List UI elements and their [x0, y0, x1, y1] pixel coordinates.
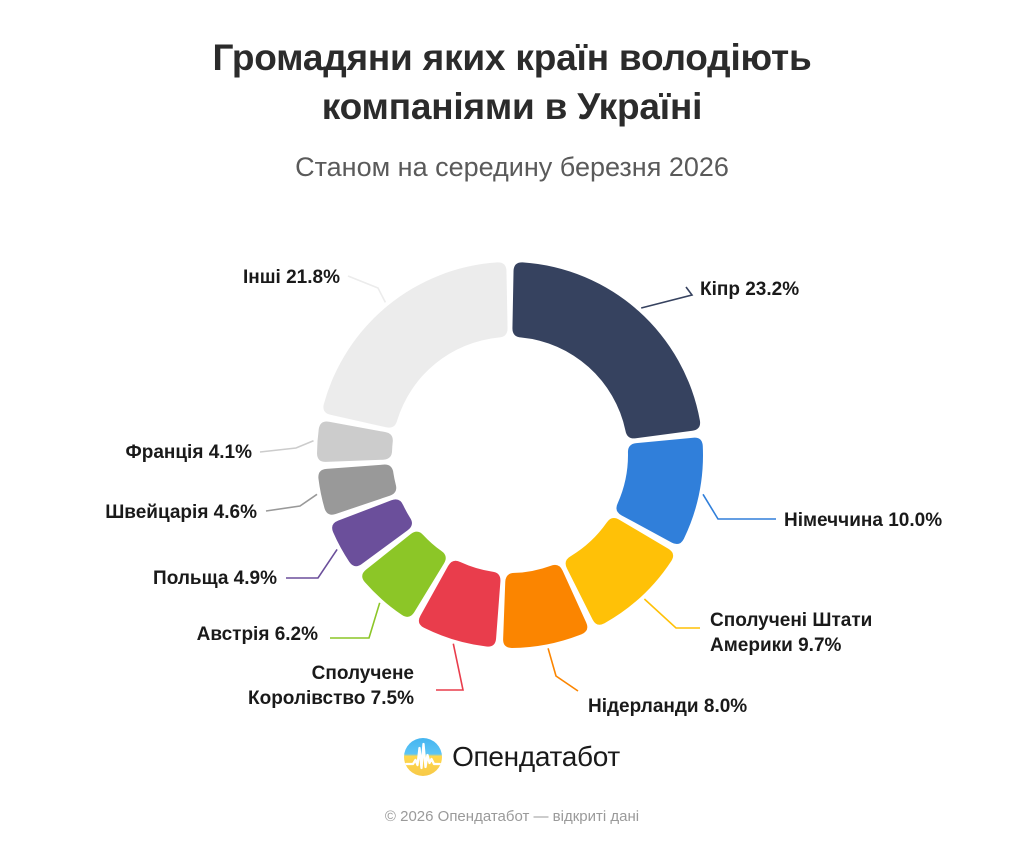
- slice-label: Інші 21.8%: [243, 267, 340, 288]
- leader-line: [348, 276, 385, 302]
- slice-label-line: Австрія 6.2%: [197, 624, 318, 645]
- slice-label: Кіпр 23.2%: [700, 279, 799, 300]
- slice-label-line: Сполучені Штати: [710, 610, 872, 631]
- slice-label: Німеччина 10.0%: [784, 510, 942, 531]
- leader-line: [436, 644, 463, 690]
- leader-line: [548, 648, 578, 691]
- donut-slice[interactable]: [323, 262, 507, 427]
- slice-label-line: Швейцарія 4.6%: [105, 502, 257, 523]
- slice-label: Швейцарія 4.6%: [105, 502, 257, 523]
- donut-chart: Кіпр 23.2%Німеччина 10.0%Сполучені Штати…: [0, 0, 1024, 853]
- slice-label: Австрія 6.2%: [197, 624, 318, 645]
- leader-line: [286, 549, 337, 578]
- donut-slice[interactable]: [512, 262, 700, 438]
- donut-slices: [317, 262, 703, 648]
- chart-page: Громадяни яких країн володіють компаніям…: [0, 0, 1024, 853]
- slice-label-line: Польща 4.9%: [153, 568, 277, 589]
- slice-label: СполученеКоролівство 7.5%: [248, 663, 414, 709]
- slice-label-line: Німеччина 10.0%: [784, 510, 942, 531]
- slice-label-line: Інші 21.8%: [243, 267, 340, 288]
- copyright-footer: © 2026 Опендатабот — відкриті дані: [0, 808, 1024, 825]
- leader-line: [644, 599, 700, 628]
- opendatabot-logo-icon: [404, 738, 442, 776]
- donut-slice[interactable]: [317, 421, 393, 461]
- slice-label: Франція 4.1%: [126, 442, 253, 463]
- slice-label-line: Нідерланди 8.0%: [588, 696, 747, 717]
- slice-label-line: Америки 9.7%: [710, 635, 842, 656]
- leader-line: [260, 441, 314, 452]
- leader-line: [641, 287, 692, 308]
- brand-lockup: Опендатабот: [0, 738, 1024, 776]
- slice-label-line: Кіпр 23.2%: [700, 279, 799, 300]
- slice-label: Сполучені ШтатиАмерики 9.7%: [710, 610, 872, 656]
- slice-label-line: Сполучене: [312, 663, 414, 684]
- leader-line: [330, 603, 380, 638]
- slice-label: Польща 4.9%: [153, 568, 277, 589]
- slice-label-line: Франція 4.1%: [126, 442, 253, 463]
- slice-label-line: Королівство 7.5%: [248, 688, 414, 709]
- leader-line: [703, 494, 776, 519]
- brand-name: Опендатабот: [452, 741, 620, 773]
- slice-label: Нідерланди 8.0%: [588, 696, 747, 717]
- leader-line: [266, 494, 317, 511]
